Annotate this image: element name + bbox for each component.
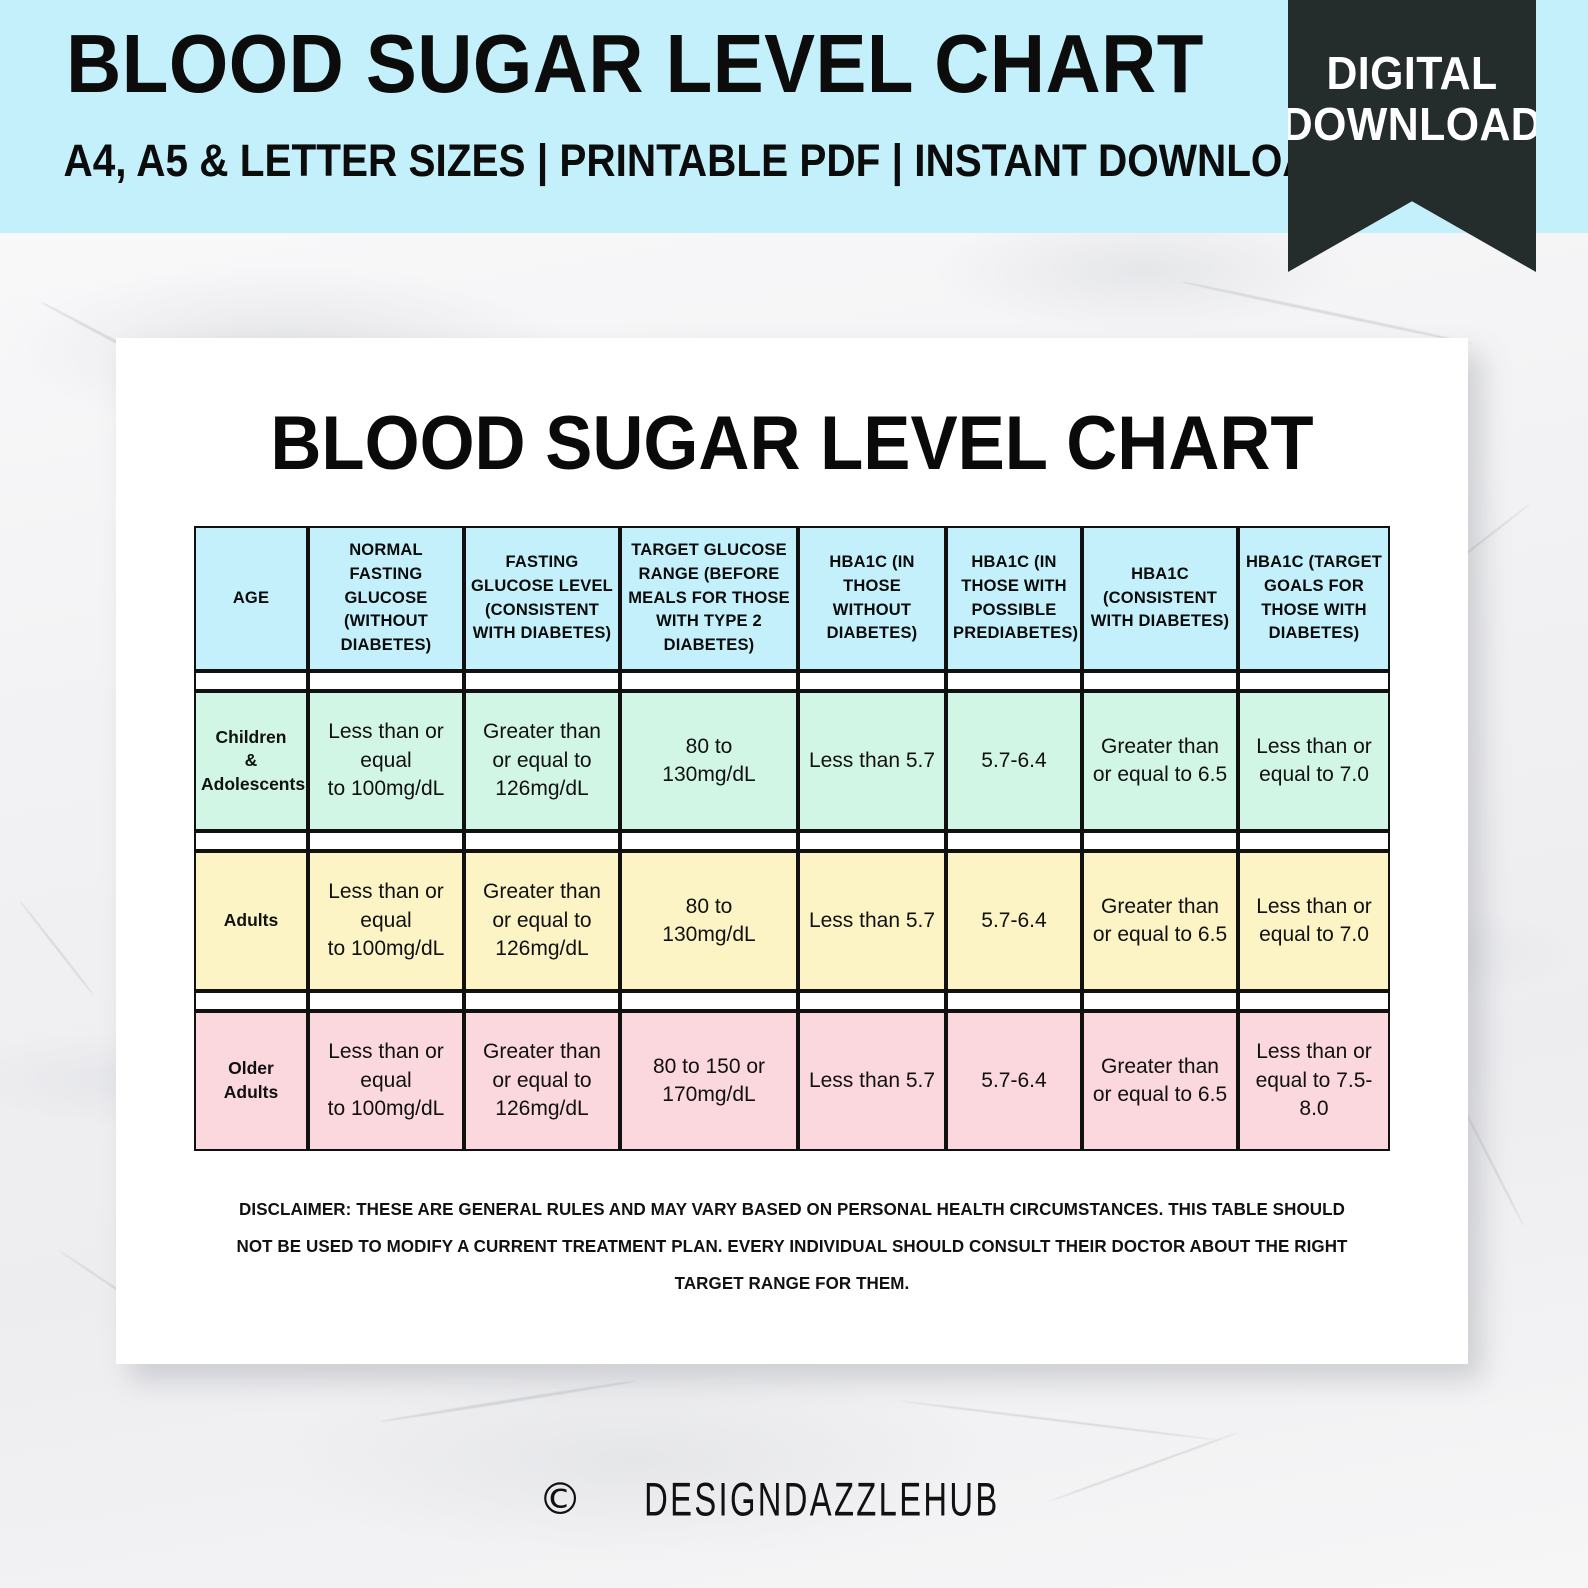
cell: Greater thanor equal to126mg/dL — [464, 691, 620, 831]
col-header-hba1c-target-goals: HBA1C (TARGET GOALS FOR THOSE WITH DIABE… — [1238, 526, 1390, 671]
banner-subtitle: A4, A5 & LETTER SIZES | PRINTABLE PDF | … — [64, 138, 1207, 183]
cell: Greater thanor equal to126mg/dL — [464, 851, 620, 991]
cell: Greater thanor equal to 6.5 — [1082, 851, 1238, 991]
cell: Less than 5.7 — [798, 1011, 946, 1151]
header-row: AGE NORMAL FASTING GLUCOSE (WITHOUT DIAB… — [194, 526, 1390, 671]
cell: Less than 5.7 — [798, 691, 946, 831]
table-row: Adults Less than or equalto 100mg/dL Gre… — [194, 851, 1390, 991]
disclaimer-text: DISCLAIMER: THESE ARE GENERAL RULES AND … — [229, 1191, 1354, 1301]
blood-sugar-table: AGE NORMAL FASTING GLUCOSE (WITHOUT DIAB… — [194, 526, 1390, 1151]
table-body: Children& Adolescents Less than or equal… — [194, 671, 1390, 1151]
cell: 5.7-6.4 — [946, 1011, 1082, 1151]
table-row: Older Adults Less than or equalto 100mg/… — [194, 1011, 1390, 1151]
spacer-row — [194, 831, 1390, 851]
table-row: Children& Adolescents Less than or equal… — [194, 691, 1390, 831]
col-header-hba1c-diabetes: HBA1C (CONSISTENT WITH DIABETES) — [1082, 526, 1238, 671]
cell: Less than or equalto 100mg/dL — [308, 1011, 464, 1151]
row-label-children: Children& Adolescents — [194, 691, 308, 831]
banner-title: BLOOD SUGAR LEVEL CHART — [51, 22, 1219, 105]
cell: Less than orequal to 7.0 — [1238, 851, 1390, 991]
col-header-fasting-diabetes: FASTING GLUCOSE LEVEL (CONSISTENT WITH D… — [464, 526, 620, 671]
cell: Greater thanor equal to 6.5 — [1082, 691, 1238, 831]
col-header-age: AGE — [194, 526, 308, 671]
spacer-row — [194, 991, 1390, 1011]
cell: 80 to130mg/dL — [620, 691, 798, 831]
cell: Greater thanor equal to 6.5 — [1082, 1011, 1238, 1151]
cell: Less than or equalto 100mg/dL — [308, 851, 464, 991]
row-label-older-adults: Older Adults — [194, 1011, 308, 1151]
table-header: AGE NORMAL FASTING GLUCOSE (WITHOUT DIAB… — [194, 526, 1390, 671]
ribbon-line-2: DOWNLOAD — [1282, 99, 1542, 150]
cell: 5.7-6.4 — [946, 691, 1082, 831]
chart-card: BLOOD SUGAR LEVEL CHART AGE NORMAL FASTI… — [116, 338, 1468, 1364]
cell: Greater thanor equal to126mg/dL — [464, 1011, 620, 1151]
cell: 5.7-6.4 — [946, 851, 1082, 991]
cell: 80 to 150 or170mg/dL — [620, 1011, 798, 1151]
cell: Less than orequal to 7.5-8.0 — [1238, 1011, 1390, 1151]
table-container: AGE NORMAL FASTING GLUCOSE (WITHOUT DIAB… — [194, 526, 1390, 1151]
cell: Less than or equalto 100mg/dL — [308, 691, 464, 831]
col-header-target-range: TARGET GLUCOSE RANGE (BEFORE MEALS FOR T… — [620, 526, 798, 671]
cell: Less than orequal to 7.0 — [1238, 691, 1390, 831]
ribbon-line-1: DIGITAL — [1326, 48, 1497, 99]
page-title: BLOOD SUGAR LEVEL CHART — [163, 406, 1420, 482]
copyright-icon: © — [538, 1478, 582, 1522]
col-header-normal-fasting: NORMAL FASTING GLUCOSE (WITHOUT DIABETES… — [308, 526, 464, 671]
brand-name: DESIGNDAZZLEHUB — [644, 1473, 999, 1527]
footer-branding: © DESIGNDAZZLEHUB — [0, 1476, 1588, 1524]
cell: 80 to130mg/dL — [620, 851, 798, 991]
spacer-row — [194, 671, 1390, 691]
col-header-hba1c-prediabetes: HBA1C (IN THOSE WITH POSSIBLE PREDIABETE… — [946, 526, 1082, 671]
row-label-adults: Adults — [194, 851, 308, 991]
col-header-hba1c-without: HBA1C (IN THOSE WITHOUT DIABETES) — [798, 526, 946, 671]
cell: Less than 5.7 — [798, 851, 946, 991]
